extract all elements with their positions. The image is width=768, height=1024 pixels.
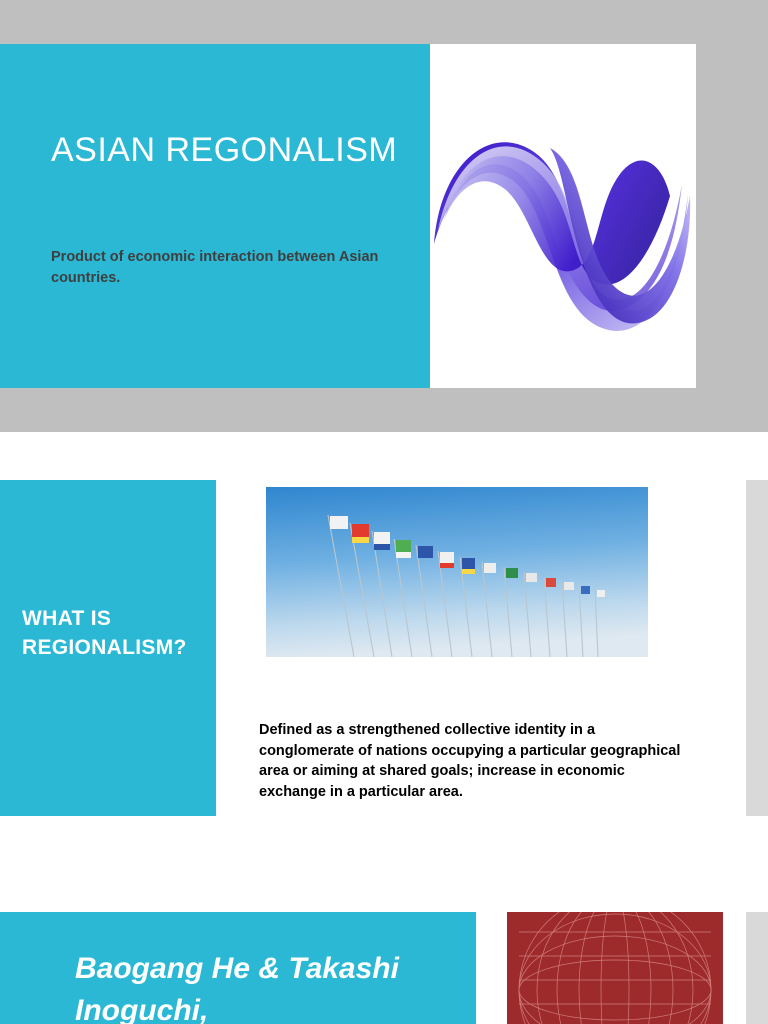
abstract-purple-swirl-graphic (430, 44, 696, 388)
slide-gap-2 (0, 864, 768, 912)
slide2-heading: WHAT IS REGIONALISM? (22, 604, 212, 662)
slide3-title: Baogang He & Takashi Inoguchi, (75, 948, 475, 1024)
red-wireframe-globe-graphic (507, 912, 723, 1024)
slide-authors[interactable]: Baogang He & Takashi Inoguchi, (0, 912, 768, 1024)
row-of-international-flags-photo (266, 487, 648, 657)
slide-title-teal-panel (0, 44, 430, 388)
slide-title-heading: ASIAN REGONALISM (51, 128, 401, 172)
slide-title[interactable]: ASIAN REGONALISM Product of economic int… (0, 0, 768, 432)
slide3-right-gray-strip (746, 912, 768, 1024)
slide-gap-1 (0, 432, 768, 464)
slide-title-subtitle: Product of economic interaction between … (51, 247, 381, 289)
slide2-right-gray-strip (746, 480, 768, 816)
slide2-body-text: Defined as a strengthened collective ide… (259, 720, 689, 802)
slide-title-image-panel (430, 44, 696, 388)
slide-what-is-regionalism[interactable]: WHAT IS REGIONALISM? (0, 464, 768, 864)
